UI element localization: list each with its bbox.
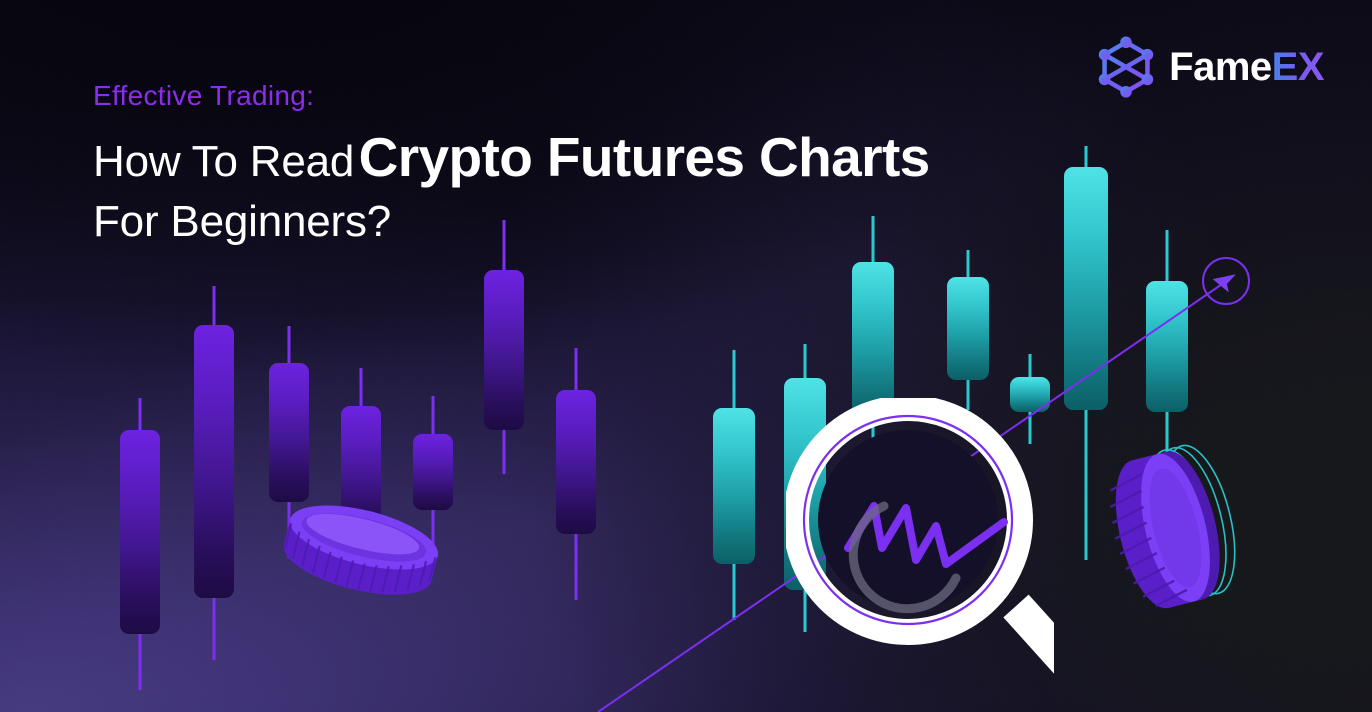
title-regular: How To Read bbox=[93, 137, 354, 186]
fameex-logo[interactable]: FameEX bbox=[1093, 34, 1324, 100]
magnifier-handle bbox=[1003, 595, 1054, 712]
crypto-coin-left bbox=[276, 498, 452, 610]
logo-wordmark: FameEX bbox=[1169, 47, 1324, 87]
crypto-coin-right bbox=[1098, 438, 1268, 620]
trend-arrow-icon bbox=[1213, 267, 1242, 296]
page-title: How To Read Crypto Futures Charts For Be… bbox=[93, 125, 1073, 248]
hexagon-network-icon bbox=[1093, 34, 1159, 100]
eyebrow-text: Effective Trading: bbox=[93, 80, 314, 112]
title-bold: Crypto Futures Charts bbox=[359, 126, 930, 188]
banner-image: Effective Trading: How To Read Crypto Fu… bbox=[0, 0, 1372, 712]
title-line2: For Beginners? bbox=[93, 196, 1073, 248]
logo-text-fame: Fame bbox=[1169, 45, 1272, 89]
logo-text-ex: EX bbox=[1272, 45, 1324, 89]
magnifying-glass bbox=[786, 398, 1054, 712]
